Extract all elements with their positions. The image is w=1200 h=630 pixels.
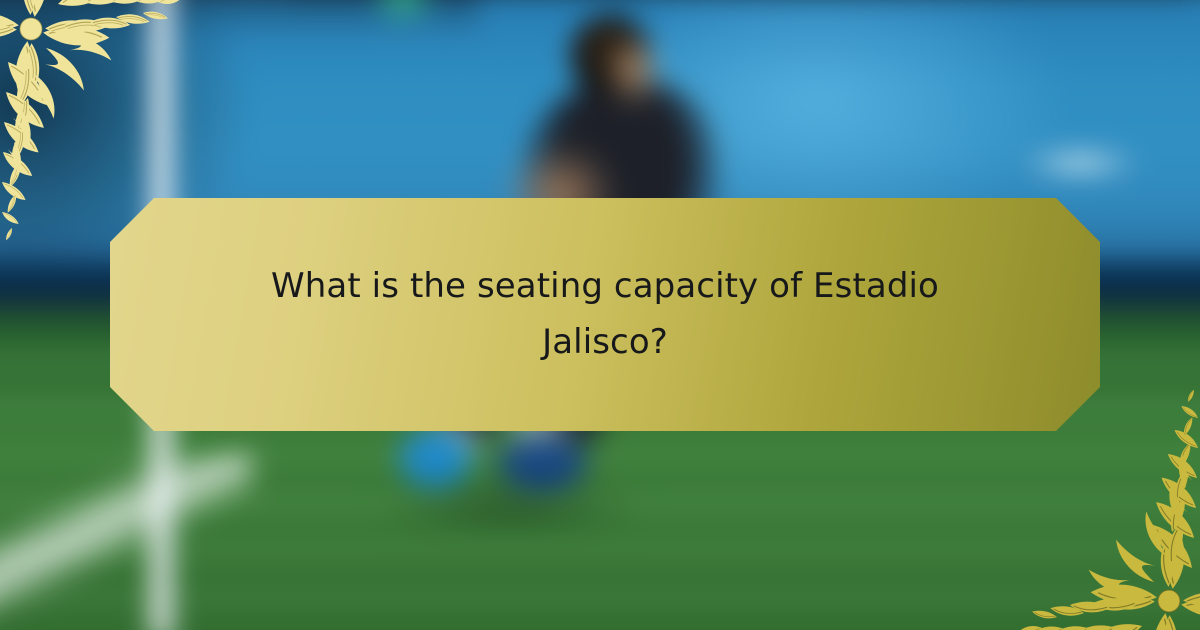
advertising-board-highlight <box>1020 148 1140 178</box>
player-face <box>608 36 664 108</box>
question-text: What is the seating capacity of Estadio … <box>225 259 985 369</box>
question-card-inner: What is the seating capacity of Estadio … <box>225 259 985 369</box>
pitch-white-line <box>0 453 267 630</box>
quiz-card-canvas: What is the seating capacity of Estadio … <box>0 0 1200 630</box>
ornament-top-arm <box>58 0 180 35</box>
question-card: What is the seating capacity of Estadio … <box>110 198 1100 431</box>
green-flag-blur <box>368 0 438 28</box>
ornament-top-arm <box>1020 595 1142 630</box>
